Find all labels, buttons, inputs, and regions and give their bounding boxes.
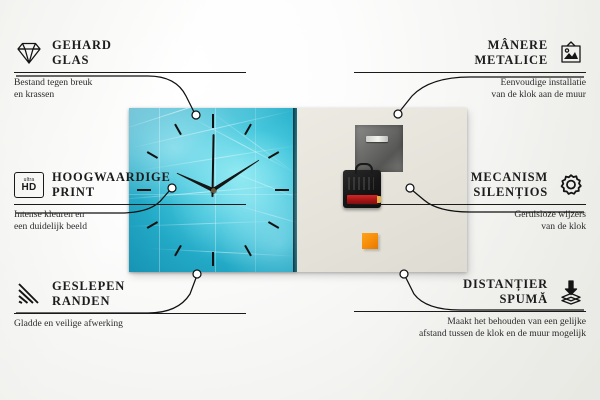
beveled-edges-icon xyxy=(14,281,44,307)
feature-subtitle: Eenvoudige installatie van de klok aan d… xyxy=(354,77,586,101)
feature-metal-handles: MÂNERE METALICE Eenvoudige installatie v… xyxy=(354,38,586,101)
feature-subtitle: Gladde en veilige afwerking xyxy=(14,318,246,330)
gear-icon xyxy=(556,172,586,198)
divider xyxy=(14,204,246,205)
feature-header: MECANISM SILENȚIOS xyxy=(354,170,586,200)
feature-header: MÂNERE METALICE xyxy=(354,38,586,68)
wall-hanger-frame-icon xyxy=(556,40,586,66)
feature-title: GESLEPEN RANDEN xyxy=(52,279,125,309)
feature-title: GEHARD GLAS xyxy=(52,38,112,68)
feature-subtitle: Maakt het behouden van een gelijke afsta… xyxy=(354,316,586,340)
feature-silent-mechanism: MECANISM SILENȚIOS Geruisloze wijzers va… xyxy=(354,170,586,233)
feature-subtitle: Geruisloze wijzers van de klok xyxy=(354,209,586,233)
divider xyxy=(14,72,246,73)
feature-title: HOOGWAARDIGE PRINT xyxy=(52,170,171,200)
hanger-slot xyxy=(366,136,388,142)
divider xyxy=(354,311,586,312)
divider xyxy=(354,72,586,73)
feature-header: GESLEPEN RANDEN xyxy=(14,279,246,309)
feature-subtitle: Intense kleuren en een duidelijk beeld xyxy=(14,209,246,233)
feature-header: ultra HD HOOGWAARDIGE PRINT xyxy=(14,170,246,200)
feature-title: MECANISM SILENȚIOS xyxy=(471,170,548,200)
feature-subtitle: Bestand tegen breuk en krassen xyxy=(14,77,246,101)
feature-title: DISTANȚIER SPUMĂ xyxy=(463,277,548,307)
feature-hd-print: ultra HD HOOGWAARDIGE PRINT Intense kleu… xyxy=(14,170,246,233)
orange-foam-spacer xyxy=(362,233,378,249)
feature-beveled-edges: GESLEPEN RANDEN Gladde en veilige afwerk… xyxy=(14,279,246,330)
ultra-hd-icon: ultra HD xyxy=(14,172,44,198)
foam-spacer-arrow-icon xyxy=(556,279,586,305)
feature-header: GEHARD GLAS xyxy=(14,38,246,68)
feature-foam-spacer: DISTANȚIER SPUMĂ Maakt het behouden van … xyxy=(354,277,586,340)
divider xyxy=(354,204,586,205)
infographic-canvas: GEHARD GLAS Bestand tegen breuk en krass… xyxy=(0,0,600,400)
diamond-icon xyxy=(14,40,44,66)
feature-tempered-glass: GEHARD GLAS Bestand tegen breuk en krass… xyxy=(14,38,246,101)
feature-header: DISTANȚIER SPUMĂ xyxy=(354,277,586,307)
divider xyxy=(14,313,246,314)
feature-title: MÂNERE METALICE xyxy=(474,38,548,68)
